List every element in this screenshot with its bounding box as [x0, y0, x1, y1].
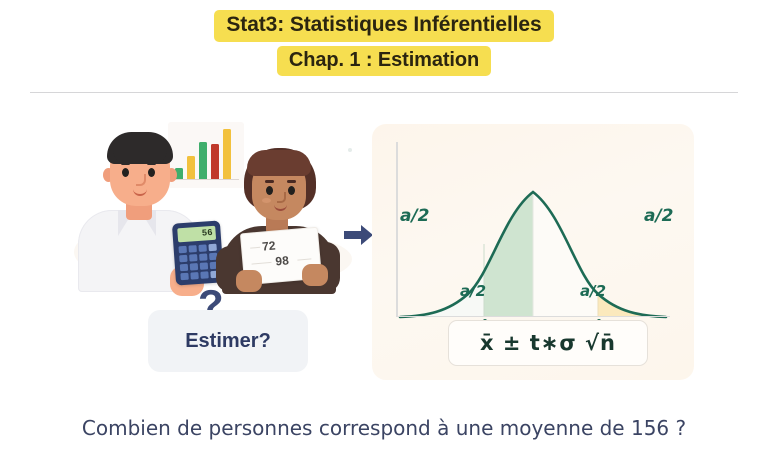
header-divider	[30, 92, 738, 93]
calculator-key	[189, 245, 197, 252]
left-confidence-shade	[484, 142, 533, 317]
man-eye-left	[122, 168, 129, 177]
calculator-key	[200, 263, 208, 270]
estimation-formula: x̄ ± t∗σ √n̄	[480, 331, 616, 355]
y-axis	[396, 142, 398, 317]
calculator-display: 56	[177, 226, 216, 243]
woman-hand-right	[302, 264, 328, 286]
woman-eye-right	[288, 186, 295, 195]
calculator-key	[199, 244, 207, 251]
woman-hair-fringe	[247, 150, 311, 176]
woman-nose	[277, 192, 286, 203]
calculator-keypad	[178, 244, 218, 281]
calculator-key	[180, 273, 188, 280]
woman-eyebrow-right	[287, 180, 296, 183]
decor-dot	[348, 148, 352, 152]
man-hair	[107, 132, 173, 164]
title-line-1: Stat3: Statistiques Inférentielles	[214, 10, 553, 42]
illustration-people: 56	[72, 108, 362, 293]
alpha-label-right-tail: a/2	[644, 206, 674, 226]
title-line-2: Chap. 1 : Estimation	[277, 46, 491, 77]
calculator-key	[180, 264, 188, 271]
slide-title: Stat3: Statistiques Inférentielles Chap.…	[0, 10, 768, 76]
man-eyebrow-left	[121, 162, 130, 165]
right-arrow-icon	[344, 224, 374, 246]
paper-line	[297, 258, 311, 260]
alpha-label-left-tail: a/2	[400, 206, 430, 226]
calculator-key	[178, 246, 186, 253]
right-tail-shade	[598, 142, 666, 317]
person-woman: 72 98	[214, 142, 344, 292]
woman-eye-left	[266, 186, 273, 195]
woman-hand-left	[236, 270, 262, 292]
paper-line	[252, 262, 272, 265]
bell-curve-svg	[396, 142, 670, 332]
paper-line	[250, 247, 260, 249]
woman-cheek	[262, 198, 271, 203]
man-eye-right	[148, 168, 155, 177]
calculator-key	[179, 255, 187, 262]
distribution-plot	[396, 142, 670, 332]
man-eyebrow-right	[147, 162, 156, 165]
estimer-label: Estimer?	[148, 310, 308, 372]
calculator-key	[201, 272, 209, 279]
person-man: 56	[78, 124, 202, 292]
x-axis	[396, 316, 670, 318]
paper-value-2: 98	[275, 253, 290, 268]
alpha-label-axis-right: a/2	[580, 282, 606, 300]
alpha-label-axis-left: a/2	[460, 282, 486, 300]
calculator-key	[189, 254, 197, 261]
woman-eyebrow-left	[265, 180, 274, 183]
slide-root: Stat3: Statistiques Inférentielles Chap.…	[0, 0, 768, 451]
calculator-key	[190, 263, 198, 270]
calculator-key	[199, 254, 207, 261]
paper-value-1: 72	[261, 238, 276, 253]
calculator-key	[190, 272, 198, 279]
formula-box: x̄ ± t∗σ √n̄	[448, 320, 648, 366]
bottom-question: Combien de personnes correspond à une mo…	[0, 416, 768, 440]
